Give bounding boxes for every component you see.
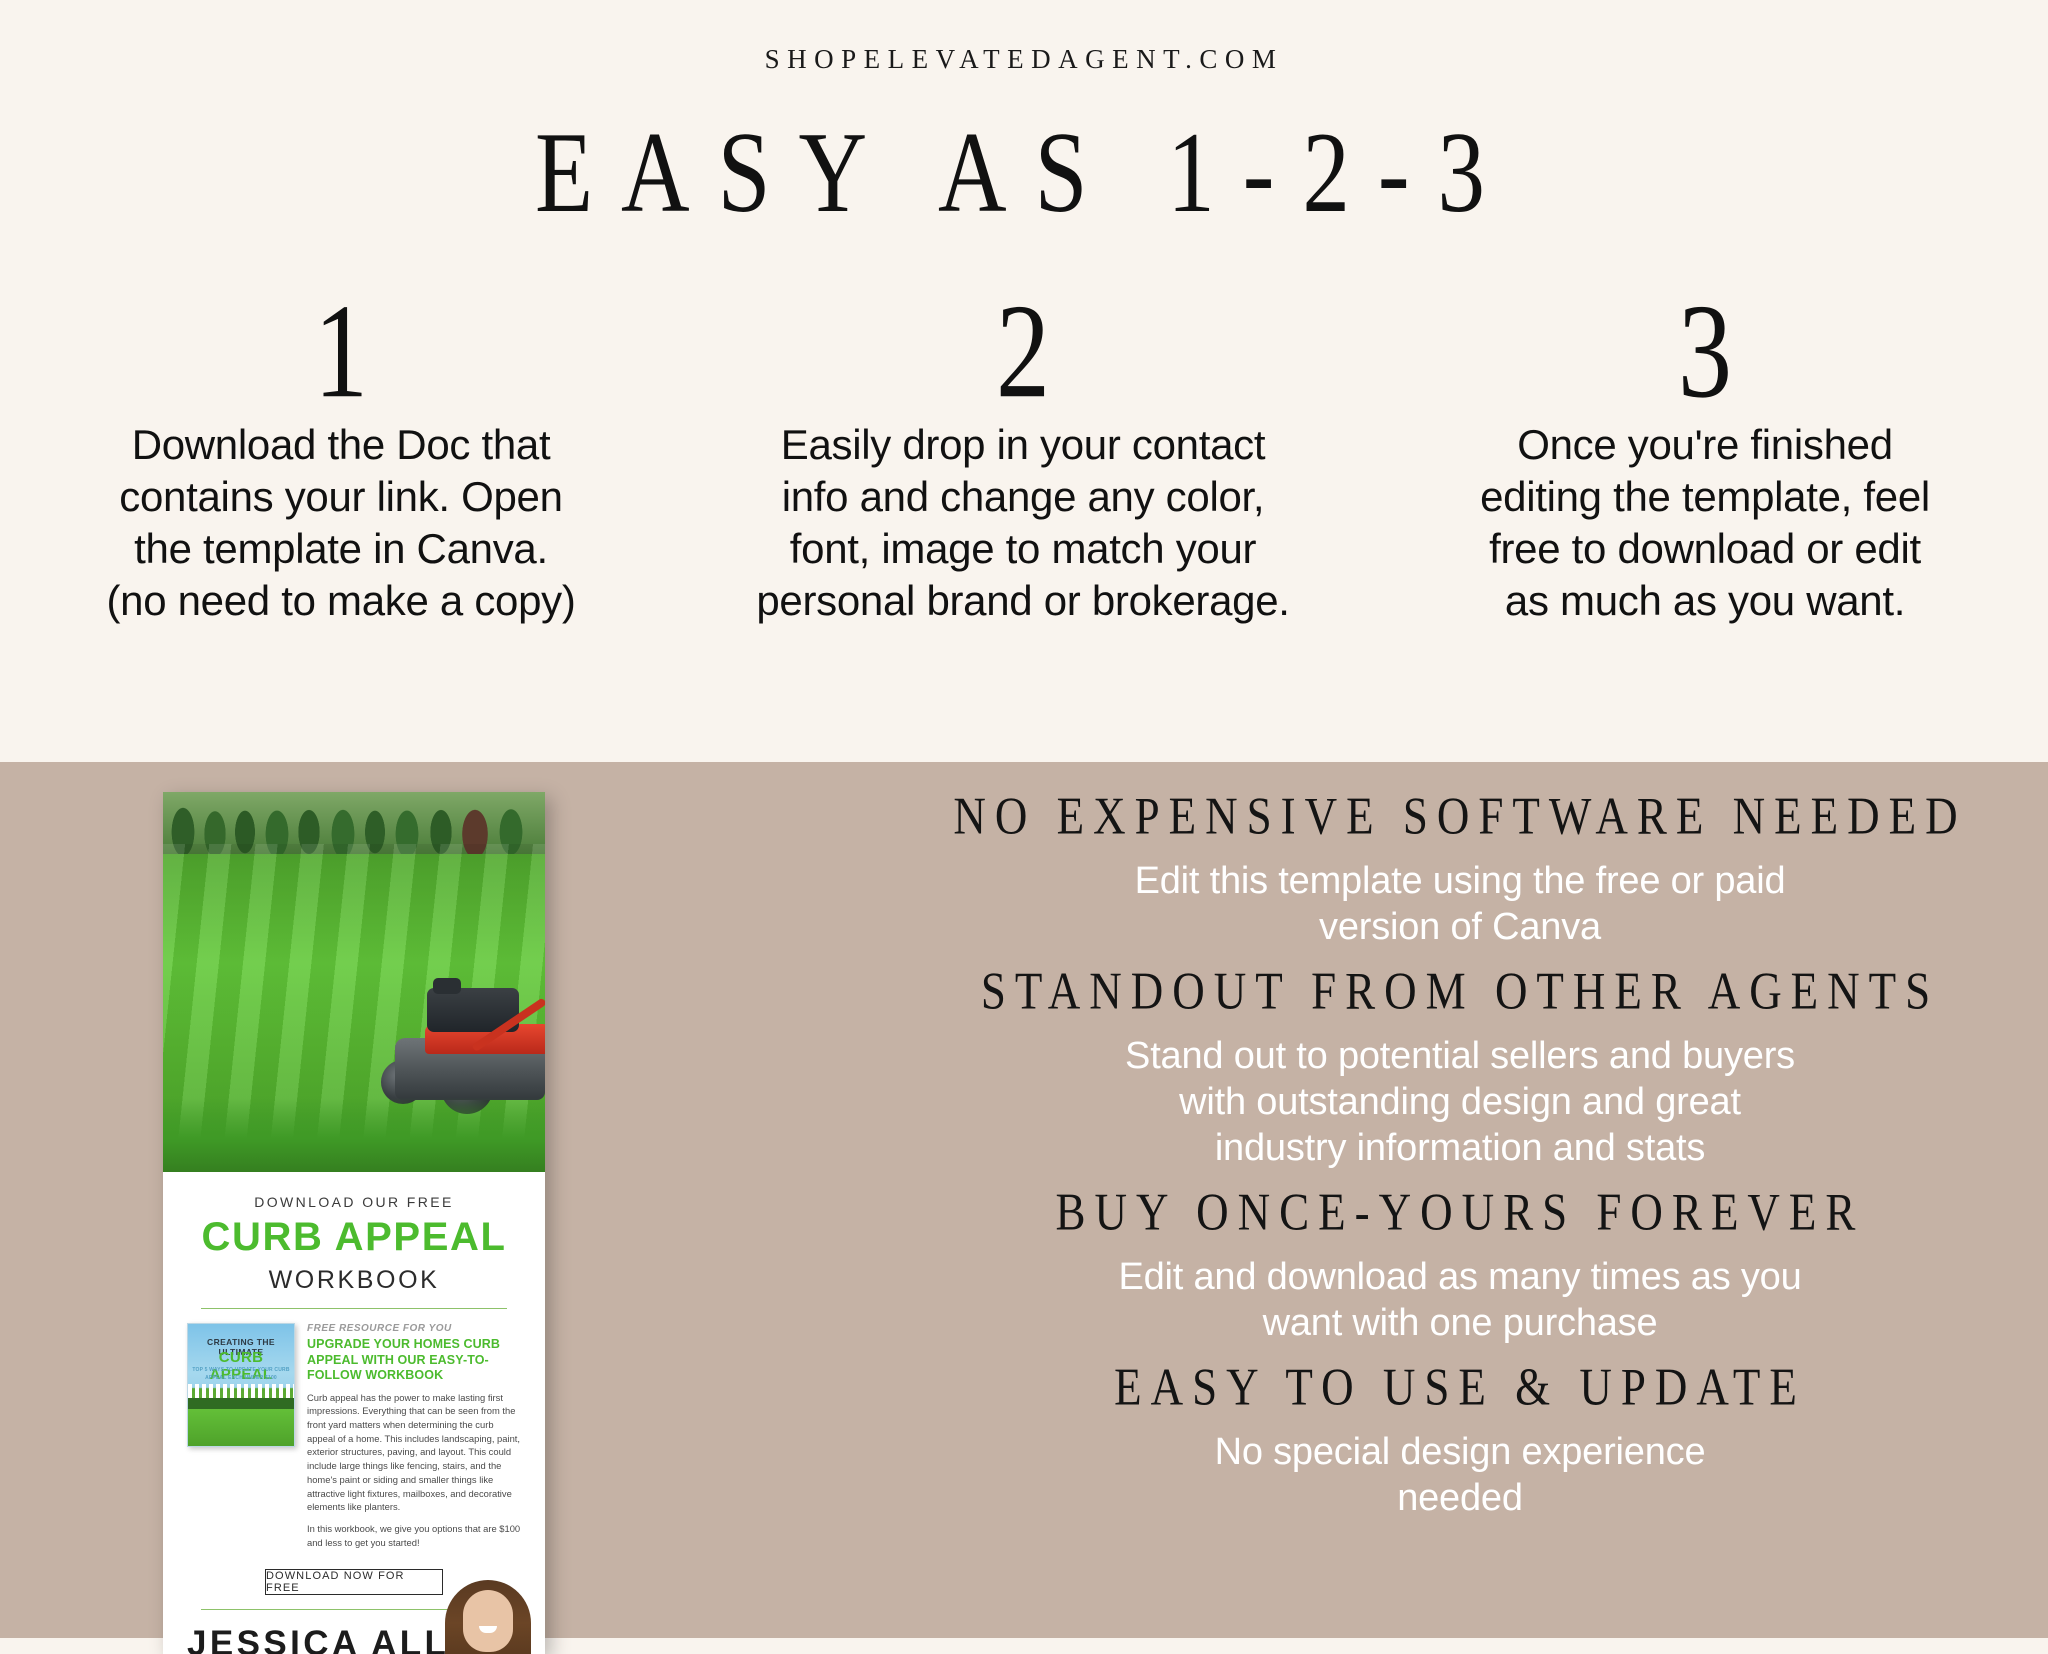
page-title: EASY AS 1-2-3 — [0, 105, 2048, 239]
agent-headshot — [423, 1568, 545, 1654]
flyer-content: DOWNLOAD OUR FREE CURB APPEAL WORKBOOK C… — [163, 1172, 545, 1610]
flyer-columns: CREATING THE ULTIMATE CURB APPEAL TOP 5 … — [187, 1323, 521, 1557]
benefit-item-1: NO EXPENSIVE SOFTWARE NEEDED Edit this t… — [890, 790, 2030, 951]
benefit-item-2: STANDOUT FROM OTHER AGENTS Stand out to … — [890, 965, 2030, 1172]
lawn-mower-icon — [375, 968, 545, 1116]
mower-cap — [433, 978, 461, 994]
step-number-2: 2 — [682, 285, 1364, 420]
agent-block: JESSICA ALLEN NASHVILLE'S TOP REAL ESTAT… — [163, 1610, 545, 1654]
step-number-3: 3 — [1364, 285, 2046, 420]
step-description-1: Download the Doc that contains your link… — [0, 419, 682, 627]
benefit-description-3: Edit and download as many times as you w… — [890, 1254, 2030, 1347]
benefit-description-1: Edit this template using the free or pai… — [890, 858, 2030, 951]
flyer-paragraph-2: In this workbook, we give you options th… — [307, 1522, 521, 1549]
flyer-eyebrow: DOWNLOAD OUR FREE — [187, 1194, 521, 1210]
intro-section: SHOPELEVATEDAGENT.COM EASY AS 1-2-3 1 Do… — [0, 0, 2048, 762]
benefits-list: NO EXPENSIVE SOFTWARE NEEDED Edit this t… — [890, 790, 2030, 1535]
free-resource-label: FREE RESOURCE FOR YOU — [307, 1323, 521, 1334]
steps-row: 1 Download the Doc that contains your li… — [0, 285, 2048, 627]
benefit-description-4: No special design experience needed — [890, 1429, 2030, 1522]
download-now-button[interactable]: DOWNLOAD NOW FOR FREE — [265, 1569, 443, 1595]
headshot-face — [463, 1590, 513, 1652]
step-item-2: 2 Easily drop in your contact info and c… — [682, 285, 1364, 627]
step-description-2: Easily drop in your contact info and cha… — [682, 419, 1364, 627]
flyer-divider — [201, 1308, 507, 1309]
flyer-mockup: DOWNLOAD OUR FREE CURB APPEAL WORKBOOK C… — [163, 792, 545, 1654]
grass-graphic — [188, 1409, 294, 1447]
site-url: SHOPELEVATEDAGENT.COM — [0, 44, 2048, 75]
step-item-3: 3 Once you're finished editing the templ… — [1364, 285, 2046, 627]
flyer-title: CURB APPEAL — [187, 1217, 521, 1257]
workbook-thumbnail: CREATING THE ULTIMATE CURB APPEAL TOP 5 … — [187, 1323, 295, 1447]
hedge-graphic — [188, 1398, 294, 1409]
flyer-paragraph-1: Curb appeal has the power to make lastin… — [307, 1391, 521, 1514]
benefit-item-4: EASY TO USE & UPDATE No special design e… — [890, 1361, 2030, 1522]
benefit-title-2: STANDOUT FROM OTHER AGENTS — [890, 960, 2030, 1021]
flyer-subtitle: WORKBOOK — [187, 1266, 521, 1295]
step-description-3: Once you're finished editing the templat… — [1364, 419, 2046, 627]
thumbnail-line-3: TOP 5 WAYS TO UPDATE YOUR CURB APPEAL EA… — [188, 1367, 294, 1382]
benefit-title-3: BUY ONCE-YOURS FOREVER — [890, 1181, 2030, 1242]
flyer-text-column: FREE RESOURCE FOR YOU UPGRADE YOUR HOMES… — [307, 1323, 521, 1557]
benefit-description-2: Stand out to potential sellers and buyer… — [890, 1033, 2030, 1172]
benefit-item-3: BUY ONCE-YOURS FOREVER Edit and download… — [890, 1186, 2030, 1347]
lawn-mower-photo — [163, 792, 545, 1172]
grass-foreground — [163, 1098, 545, 1172]
step-item-1: 1 Download the Doc that contains your li… — [0, 285, 682, 627]
step-number-1: 1 — [0, 285, 682, 420]
features-section: DOWNLOAD OUR FREE CURB APPEAL WORKBOOK C… — [0, 762, 2048, 1638]
benefit-title-1: NO EXPENSIVE SOFTWARE NEEDED — [890, 785, 2030, 846]
flyer-headline: UPGRADE YOUR HOMES CURB APPEAL WITH OUR … — [307, 1337, 521, 1384]
benefit-title-4: EASY TO USE & UPDATE — [890, 1356, 2030, 1417]
